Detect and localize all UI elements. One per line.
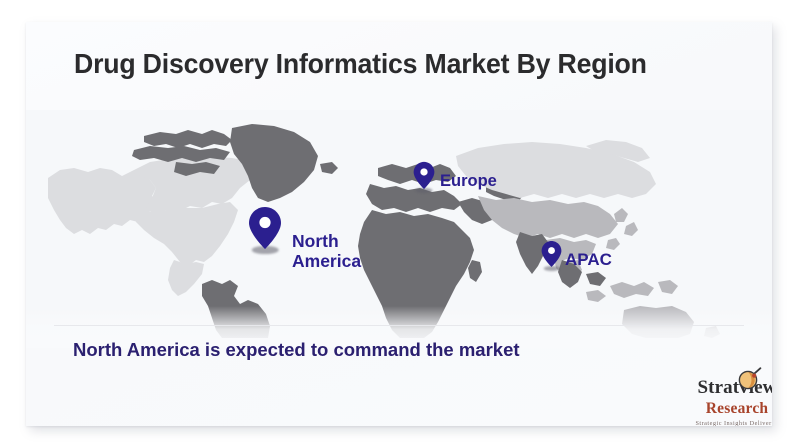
infographic-card: Drug Discovery Informatics Market By Reg… bbox=[26, 22, 772, 426]
map-pin-label-north-america: North America bbox=[292, 232, 361, 271]
magnifier-globe-icon bbox=[737, 367, 763, 393]
logo-subtitle: Research bbox=[677, 400, 772, 418]
map-pin-north-america[interactable] bbox=[248, 206, 282, 252]
logo-tagline: Strategic Insights Delivered bbox=[677, 420, 772, 426]
map-pin-apac[interactable] bbox=[541, 240, 562, 269]
section-divider bbox=[54, 325, 744, 326]
map-pin-europe[interactable] bbox=[413, 161, 435, 191]
location-pin-icon bbox=[413, 161, 435, 190]
page-title: Drug Discovery Informatics Market By Reg… bbox=[74, 48, 647, 80]
world-map-svg bbox=[26, 110, 772, 338]
logo-wordmark-row: Stratview ™ bbox=[677, 374, 772, 398]
world-map: North America Europe APAC bbox=[26, 110, 772, 338]
screenshot-root: Drug Discovery Informatics Market By Reg… bbox=[0, 0, 800, 448]
location-pin-icon bbox=[248, 206, 282, 250]
map-pin-label-europe: Europe bbox=[440, 172, 497, 190]
map-pin-label-apac: APAC bbox=[565, 250, 612, 269]
location-pin-icon bbox=[541, 240, 562, 268]
stratview-research-logo: Stratview ™ Research Strategic Insights … bbox=[677, 374, 772, 426]
summary-caption: North America is expected to command the… bbox=[73, 338, 523, 362]
